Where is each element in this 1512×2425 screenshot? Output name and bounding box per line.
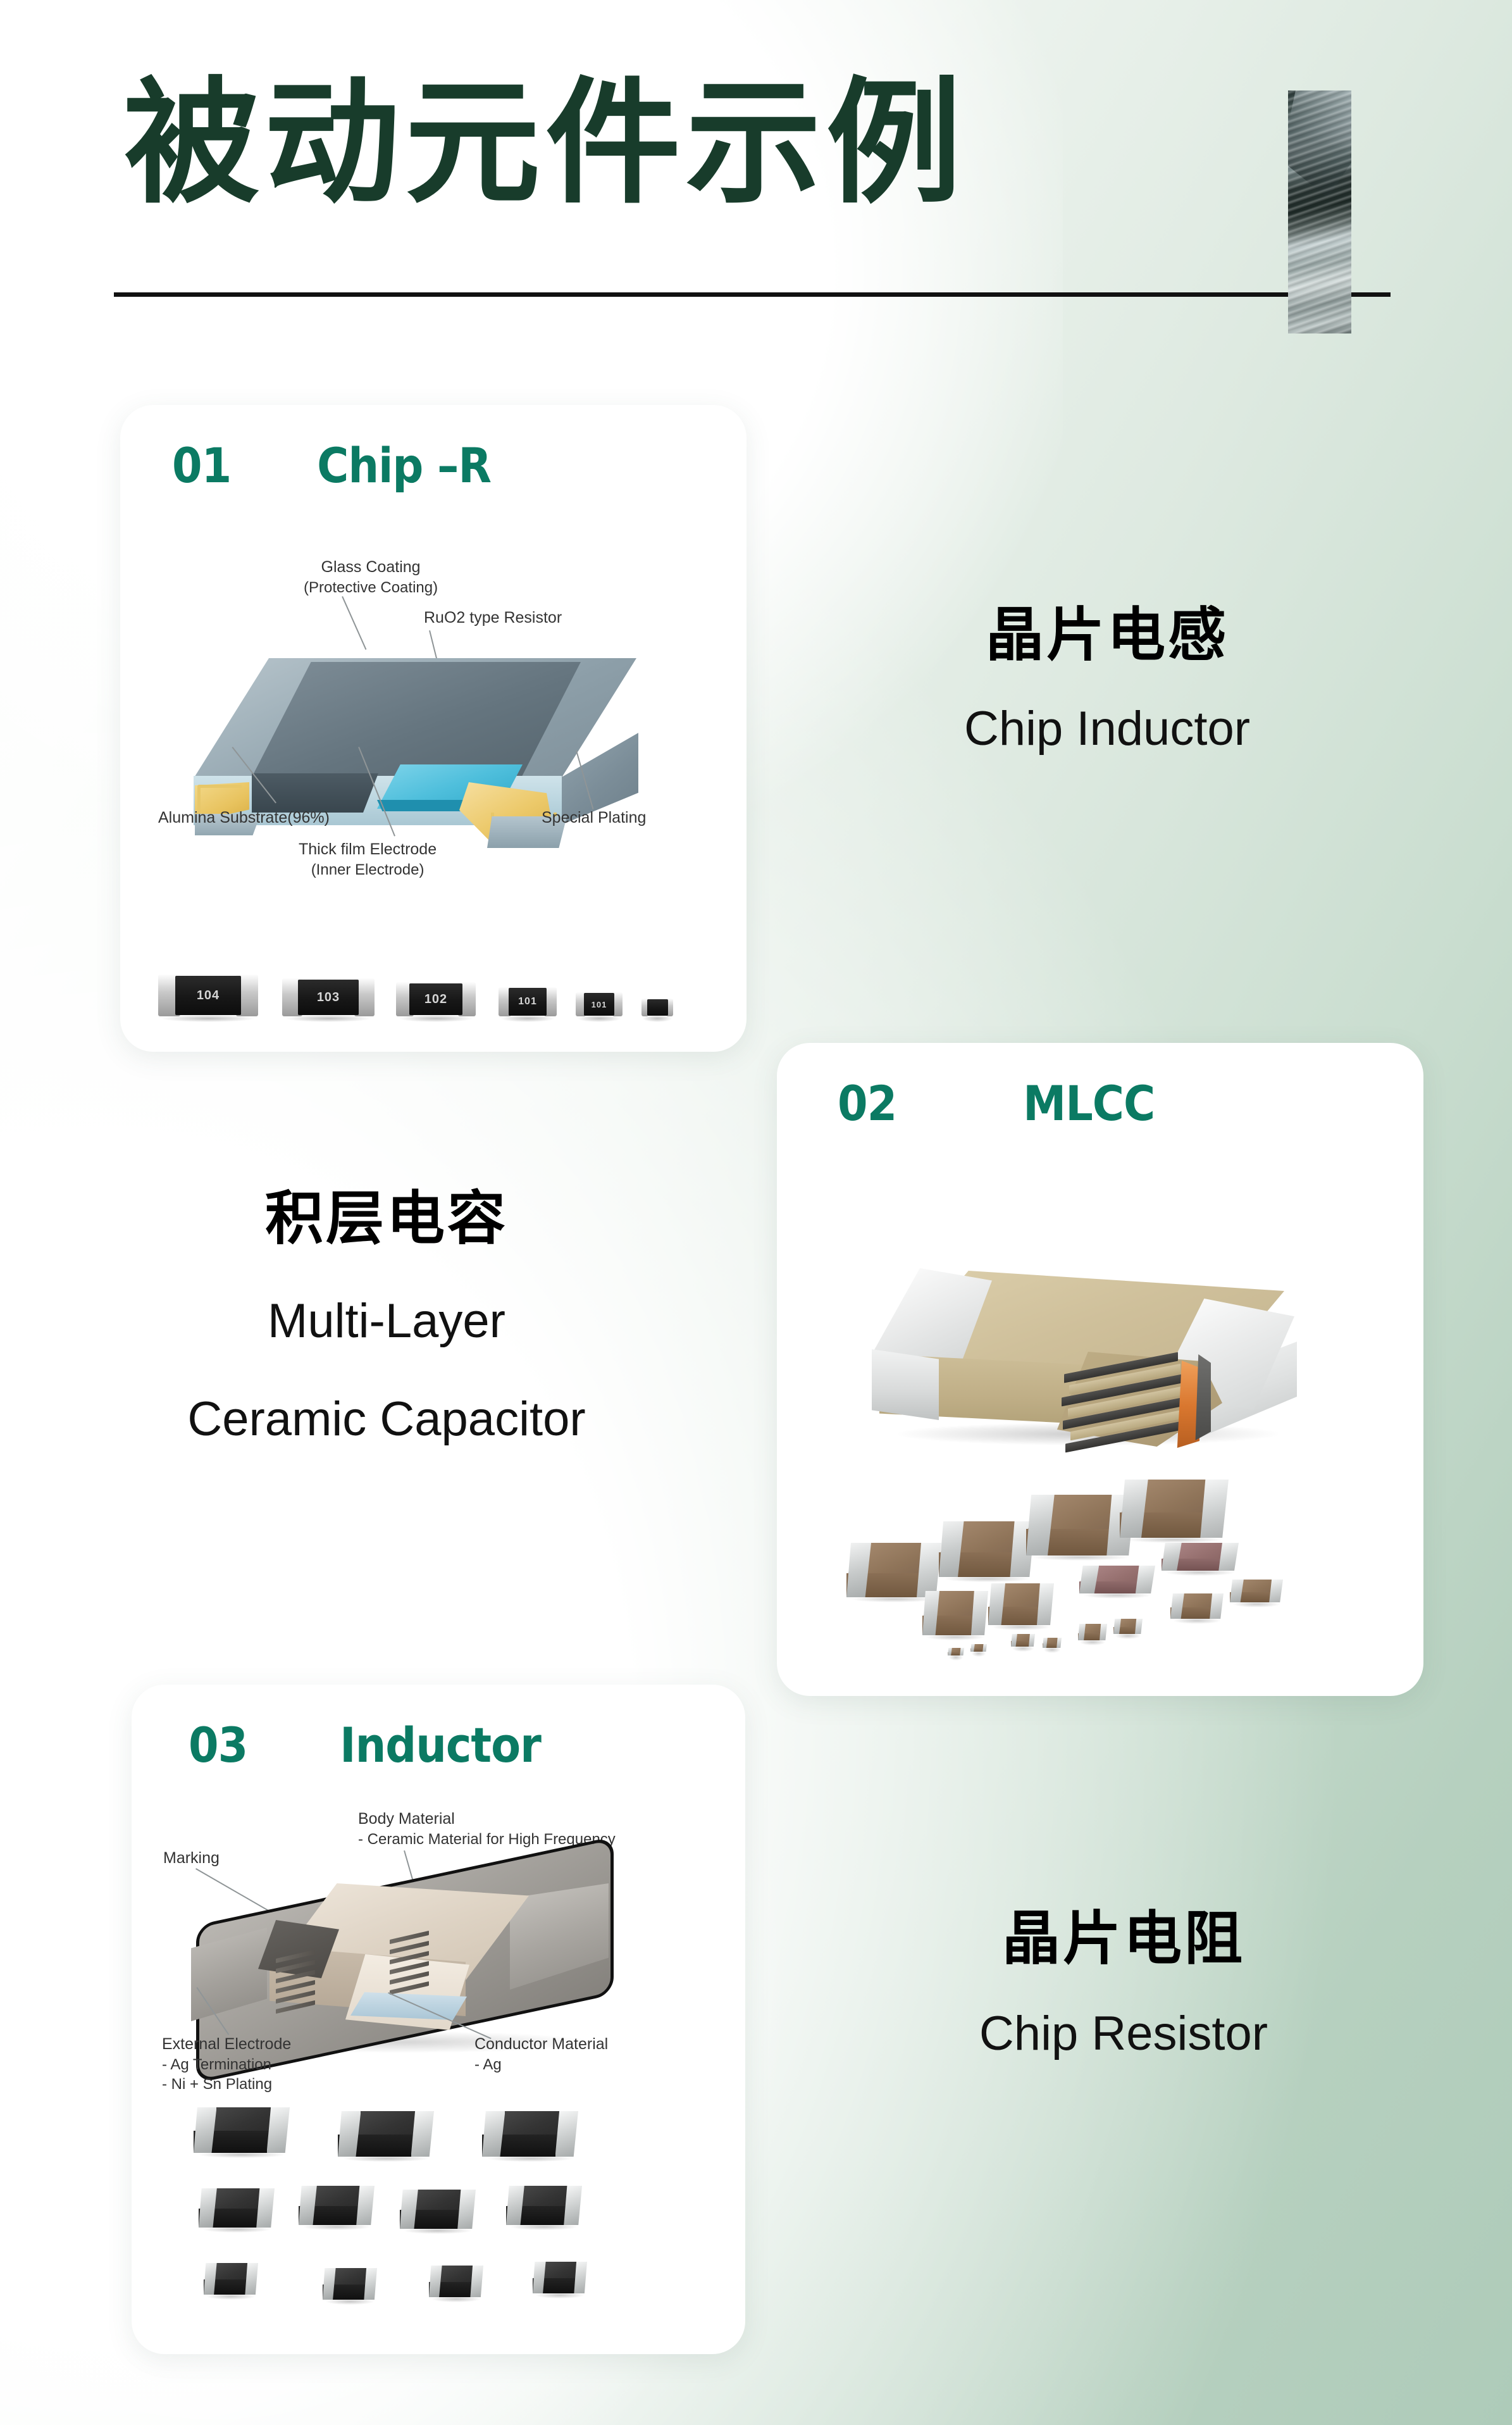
cap-shadow: [1084, 1592, 1151, 1599]
mlcc-sample-chip: [1120, 1480, 1229, 1538]
cap-shadow: [1012, 1645, 1033, 1652]
chip-body: 104: [175, 976, 241, 1015]
chip-marking: 104: [197, 988, 220, 1003]
chip-marking: 103: [317, 990, 340, 1005]
ind-shadow: [203, 2226, 270, 2233]
chip-resistor-title-cn: 晶片电阻: [858, 1905, 1389, 1974]
chip-shadow: [399, 1015, 473, 1022]
chip-resistor-cutaway-figure: Glass Coating (Protective Coating) RuO2 …: [158, 557, 715, 873]
inductor-sample-chip: [482, 2111, 578, 2157]
inductor-cavity-floor: [350, 1992, 467, 2020]
poster-canvas: 被动元件示例 01 Chip –R Glass Coating (Protect…: [0, 0, 1512, 2425]
chip-body: 103: [298, 980, 359, 1015]
chip-body: [647, 999, 668, 1016]
chip-resistor-sample-row: 104 103 102 101: [158, 934, 715, 1016]
ind-shadow: [488, 2155, 573, 2162]
mlcc-sample-chip: [1113, 1619, 1143, 1634]
figure-label-external-electrode: External Electrode - Ag Termination - Ni…: [162, 2034, 291, 2094]
inductor-sample-chip: [338, 2111, 434, 2157]
cap-shadow: [926, 1634, 984, 1640]
mlcc-title-cn: 积层电容: [111, 1185, 662, 1254]
chip-shadow: [286, 1015, 371, 1022]
cap-shadow: [972, 1650, 986, 1657]
cap-shadow: [1126, 1537, 1222, 1543]
figure-label-conductor-material: Conductor Material - Ag: [474, 2034, 608, 2074]
inductor-sample-chip: [400, 2190, 476, 2229]
mlcc-sample-chip: [846, 1543, 941, 1597]
mlcc-sample-chip: [922, 1591, 988, 1635]
cap-shadow: [1044, 1647, 1060, 1653]
mlcc-sample-chip: [1011, 1634, 1035, 1647]
header-divider-rule: [114, 292, 1391, 297]
side-text-mlcc: 积层电容 Multi-Layer Ceramic Capacitor: [111, 1185, 662, 1450]
cap-shadow: [1174, 1618, 1220, 1624]
inductor-sample-chip: [194, 2107, 290, 2153]
card-02-index: 02: [838, 1075, 896, 1131]
page-title: 被动元件示例: [124, 75, 967, 213]
header-decorative-photo-strip: [1288, 90, 1351, 334]
inductor-sample-chip: [204, 2263, 258, 2295]
card-01-index: 01: [172, 437, 231, 494]
card-03-header: 03 Inductor: [132, 1685, 745, 1805]
chip-marking: 101: [592, 1000, 607, 1009]
card-03-index: 03: [189, 1717, 247, 1773]
figure-label-ruo2-resistor: RuO2 type Resistor: [424, 608, 562, 628]
ind-shadow: [432, 2296, 480, 2302]
chip-inductor-sample-array: [187, 2107, 719, 2310]
mlcc-termination-front-left: [872, 1349, 939, 1420]
ind-shadow: [326, 2298, 374, 2305]
figure-label-body-material: Body Material - Ceramic Material for Hig…: [358, 1809, 616, 1849]
mlcc-title-en-line1: Multi-Layer: [111, 1290, 662, 1352]
header: 被动元件示例: [0, 0, 1512, 354]
card-03-label: Inductor: [340, 1717, 541, 1773]
chip-marking: 102: [424, 992, 447, 1007]
mlcc-sample-chip: [1162, 1543, 1239, 1571]
chip-inductor-title-cn: 晶片电感: [835, 601, 1379, 670]
inductor-sample-chip: [323, 2268, 377, 2300]
card-02-label: MLCC: [1023, 1075, 1155, 1131]
card-01-header: 01 Chip –R: [120, 405, 747, 525]
chip-inductor-title-en: Chip Inductor: [835, 698, 1379, 759]
resistor-sample-chip: [641, 999, 673, 1016]
resistor-sample-chip: 102: [396, 982, 476, 1016]
mlcc-sample-chip: [1043, 1638, 1062, 1648]
strip-fiber-layer: [1288, 90, 1351, 334]
chip-shadow: [501, 1015, 555, 1022]
chip-resistor-title-en: Chip Resistor: [858, 2003, 1389, 2064]
inductor-sample-chip: [506, 2186, 582, 2225]
mlcc-sample-chip: [1078, 1624, 1107, 1640]
chip-body: 101: [509, 988, 547, 1015]
chip-body: 101: [584, 993, 615, 1016]
inductor-sample-chip: [429, 2266, 483, 2297]
mlcc-sample-chip: [970, 1644, 987, 1652]
chip-body: 102: [409, 983, 462, 1016]
figure-label-special-plating: Special Plating: [542, 807, 646, 828]
side-text-chip-resistor: 晶片电阻 Chip Resistor: [858, 1905, 1389, 2064]
mlcc-title-en-line2: Ceramic Capacitor: [111, 1388, 662, 1450]
ind-shadow: [199, 2152, 284, 2158]
mlcc-sample-chip: [1026, 1495, 1135, 1555]
mlcc-sample-chip: [948, 1648, 964, 1655]
inductor-sample-chip: [199, 2188, 275, 2228]
mlcc-sample-chip: [1230, 1580, 1283, 1602]
figure-label-thick-film-electrode: Thick film Electrode (Inner Electrode): [299, 839, 437, 880]
resistor-cut-dark-section: [252, 773, 378, 813]
mlcc-sample-chip: [988, 1583, 1054, 1625]
chip-shadow: [578, 1015, 621, 1022]
mlcc-sample-chip: [1170, 1593, 1224, 1619]
resistor-sample-chip: 103: [282, 978, 375, 1016]
cap-shadow: [992, 1624, 1050, 1630]
ind-shadow: [207, 2293, 255, 2300]
ind-shadow: [404, 2228, 471, 2234]
figure-label-glass-coating: Glass Coating (Protective Coating): [304, 557, 438, 597]
inductor-sample-chip: [533, 2262, 587, 2293]
chip-shadow: [162, 1015, 254, 1022]
cap-shadow: [1080, 1639, 1106, 1645]
card-01-label: Chip –R: [317, 437, 491, 494]
leader-line-glass-coating: [342, 596, 366, 650]
resistor-sample-chip: 101: [499, 987, 557, 1016]
cap-shadow: [1115, 1633, 1141, 1639]
chip-marking: 101: [518, 996, 537, 1007]
resistor-sample-chip: 104: [158, 975, 258, 1016]
cap-shadow: [949, 1654, 964, 1661]
resistor-sample-chip: 101: [576, 992, 623, 1016]
ind-shadow: [511, 2224, 578, 2230]
chip-inductor-cutaway-figure: Body Material - Ceramic Material for Hig…: [158, 1823, 715, 2088]
cap-shadow: [1166, 1569, 1234, 1576]
card-02-header: 02 MLCC: [777, 1043, 1423, 1163]
mlcc-sample-chip: [1079, 1566, 1155, 1593]
ind-shadow: [303, 2224, 370, 2230]
figure-label-marking: Marking: [163, 1848, 220, 1869]
side-text-chip-inductor: 晶片电感 Chip Inductor: [835, 601, 1379, 759]
cap-shadow: [945, 1576, 1029, 1582]
ind-shadow: [344, 2155, 428, 2162]
inductor-sample-chip: [299, 2186, 375, 2225]
mlcc-sample-array: [841, 1472, 1360, 1659]
chip-shadow: [643, 1015, 672, 1022]
figure-label-alumina-substrate: Alumina Substrate(96%): [158, 807, 330, 828]
mlcc-sample-chip: [939, 1521, 1035, 1577]
cap-shadow: [1233, 1601, 1280, 1607]
ind-shadow: [536, 2292, 584, 2298]
cap-shadow: [1032, 1554, 1128, 1561]
